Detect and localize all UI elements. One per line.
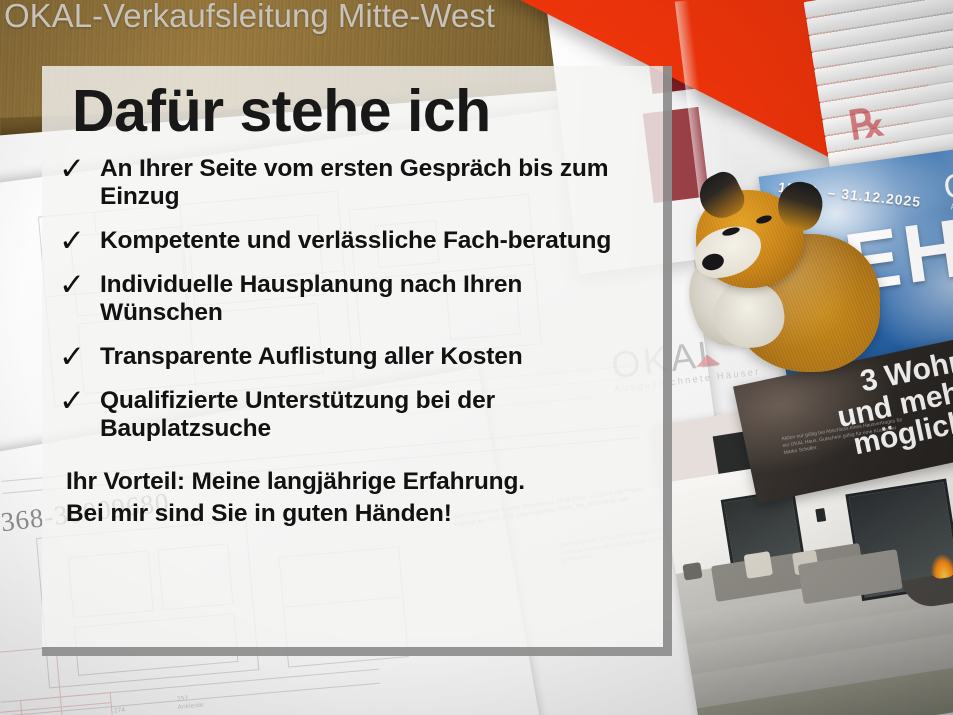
checkmark-icon: ✓	[58, 153, 86, 184]
closing-line-2: Bei mir sind Sie in guten Händen!	[66, 498, 641, 530]
checkmark-icon: ✓	[58, 341, 86, 372]
checkmark-icon: ✓	[58, 225, 86, 256]
fox-plush-figure	[686, 150, 876, 370]
slide-canvas: 274257 DuscheAnkleide 1368-30009680 Date…	[0, 0, 953, 715]
closing-statement: Ihr Vorteil: Meine langjährige Erfahrung…	[66, 466, 641, 530]
checkmark-icon: ✓	[58, 385, 86, 416]
checkmark-icon: ✓	[58, 269, 86, 300]
card-heading: Dafür stehe ich	[72, 82, 641, 141]
claims-list: ✓ An Ihrer Seite vom ersten Gespräch bis…	[58, 155, 641, 443]
svg-text:257: 257	[177, 695, 189, 703]
svg-text:274: 274	[114, 706, 126, 714]
list-item: ✓ Qualifizierte Unterstützung bei der Ba…	[58, 387, 641, 444]
list-item: ✓ Individuelle Hausplanung nach Ihren Wü…	[58, 271, 641, 328]
svg-text:Ankleide: Ankleide	[177, 702, 204, 711]
list-item: ✓ Kompetente und verlässliche Fach-berat…	[58, 227, 641, 256]
blue-brochure-brand: OKAL	[941, 155, 953, 208]
list-item-label: Individuelle Hausplanung nach Ihren Wüns…	[100, 271, 641, 328]
page-title: OKAL-Verkaufsleitung Mitte-West	[4, 0, 495, 35]
list-item-label: Qualifizierte Unterstützung bei der Baup…	[100, 387, 641, 444]
list-item-label: An Ihrer Seite vom ersten Gespräch bis z…	[100, 155, 641, 212]
list-item: ✓ Transparente Auflistung aller Kosten	[58, 343, 641, 372]
list-item-label: Kompetente und verlässliche Fach-beratun…	[100, 227, 611, 255]
claims-card: Dafür stehe ich ✓ An Ihrer Seite vom ers…	[42, 66, 672, 656]
list-item-label: Transparente Auflistung aller Kosten	[100, 343, 523, 371]
list-item: ✓ An Ihrer Seite vom ersten Gespräch bis…	[58, 155, 641, 212]
closing-line-1: Ihr Vorteil: Meine langjährige Erfahrung…	[66, 466, 641, 498]
